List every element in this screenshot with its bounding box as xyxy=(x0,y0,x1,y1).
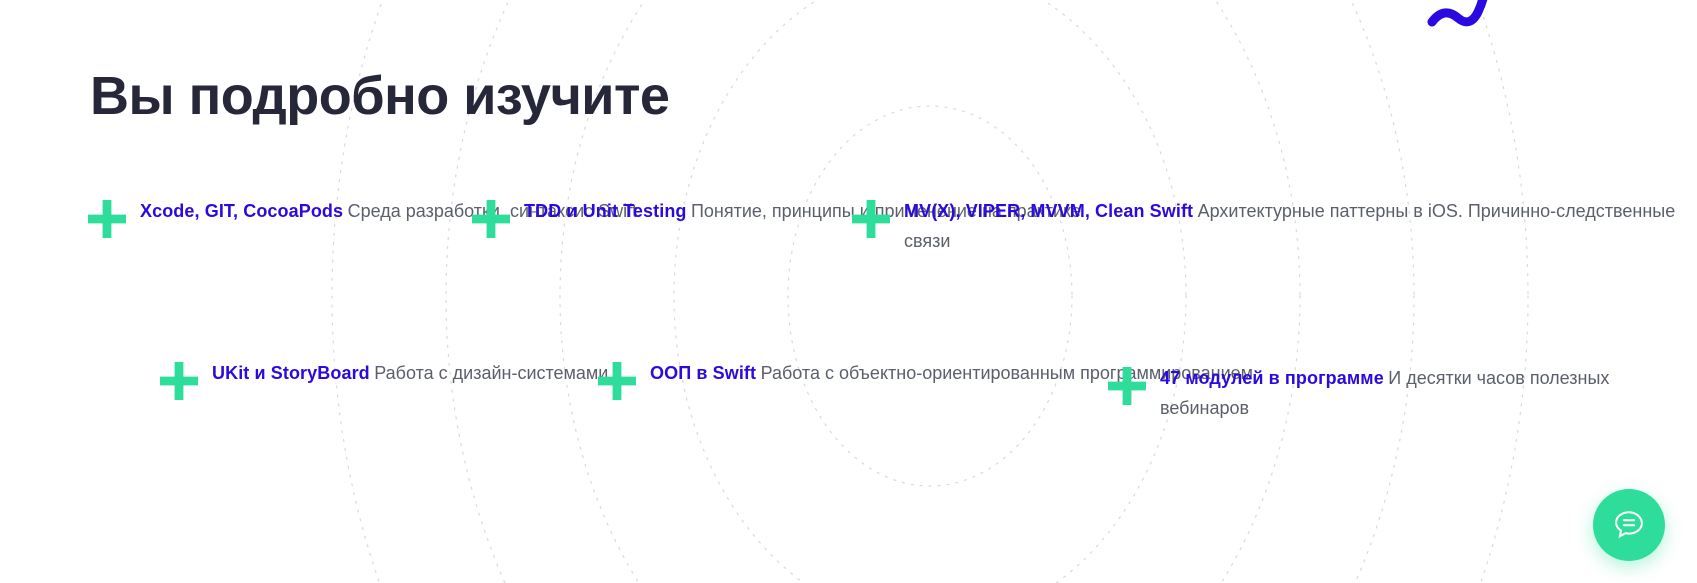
landing-section: Вы подробно изучите Xcode, GIT, CocoaPod… xyxy=(0,0,1697,583)
chat-bubble-icon xyxy=(1612,508,1646,542)
feature-title: UKit и StoryBoard xyxy=(212,363,370,383)
feature-item: UKit и StoryBoard Работа с дизайн-систем… xyxy=(160,358,608,400)
feature-item: 47 модулей в программе И десятки часов п… xyxy=(1108,363,1697,423)
feature-title: TDD и Unit Testing xyxy=(524,201,687,221)
feature-description: Работа с дизайн-системами xyxy=(374,363,608,383)
feature-title: 47 модулей в программе xyxy=(1160,368,1384,388)
plus-icon xyxy=(88,200,126,238)
plus-icon xyxy=(1108,367,1146,405)
feature-item: MV(X), VIPER, MVVM, Clean Swift Архитект… xyxy=(852,196,1697,256)
plus-icon xyxy=(852,200,890,238)
plus-icon xyxy=(160,362,198,400)
feature-title: ООП в Swift xyxy=(650,363,756,383)
plus-icon xyxy=(598,362,636,400)
chat-widget-button[interactable] xyxy=(1593,489,1665,561)
page-title: Вы подробно изучите xyxy=(90,64,669,128)
feature-title: MV(X), VIPER, MVVM, Clean Swift xyxy=(904,201,1193,221)
plus-icon xyxy=(472,200,510,238)
feature-title: Xcode, GIT, CocoaPods xyxy=(140,201,343,221)
